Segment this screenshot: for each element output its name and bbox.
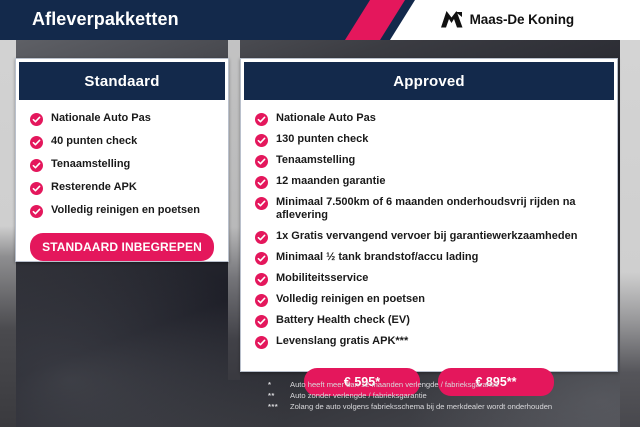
brand-name: Maas-De Koning [470,12,574,27]
card-header-approved: Approved [244,62,614,100]
list-item: 1x Gratis vervangend vervoer bij garanti… [255,230,607,244]
maas-de-koning-m-logo-icon [441,11,463,28]
feature-label: Minimaal 7.500km of 6 maanden onderhouds… [276,196,607,223]
list-item: Tenaamstelling [255,154,607,168]
footnote-row: *** Zolang de auto volgens fabrieksschem… [268,402,628,413]
list-item: Volledig reinigen en poetsen [255,293,607,307]
standaard-inbegrepen-button[interactable]: STANDAARD INBEGREPEN [30,233,214,261]
check-circle-icon [255,336,268,349]
feature-label: Nationale Auto Pas [276,112,376,125]
background-mid-strip [228,40,240,380]
feature-label: 130 punten check [276,133,368,146]
package-card-approved: Approved Nationale Auto Pas 130 punten c… [240,58,618,372]
feature-label: Battery Health check (EV) [276,314,410,327]
brand-logo: Maas-De Koning [441,11,574,28]
feature-label: Mobiliteitsservice [276,272,368,285]
page-title: Afleverpakketten [32,9,179,30]
check-circle-icon [255,273,268,286]
header-bar: Afleverpakketten Maas-De Koning [0,0,640,40]
list-item: Levenslang gratis APK*** [255,335,607,349]
feature-label: Volledig reinigen en poetsen [51,204,200,217]
footnote-text: Auto heeft meer dan 12 maanden verlengde… [290,380,499,391]
footnote-text: Zolang de auto volgens fabrieksschema bi… [290,402,552,413]
check-circle-icon [255,176,268,189]
check-circle-icon [30,159,43,172]
list-item: Minimaal ½ tank brandstof/accu lading [255,251,607,265]
check-circle-icon [30,136,43,149]
footnote-marker: ** [268,391,290,402]
check-circle-icon [30,182,43,195]
package-card-standaard: Standaard Nationale Auto Pas 40 punten c… [15,58,229,262]
list-item: Tenaamstelling [30,158,218,172]
feature-label: Minimaal ½ tank brandstof/accu lading [276,251,478,264]
slide-root: Afleverpakketten Maas-De Koning Standaar… [0,0,640,427]
card-header-standaard: Standaard [19,62,225,100]
list-item: 130 punten check [255,133,607,147]
list-item: 40 punten check [30,135,218,149]
list-item: Resterende APK [30,181,218,195]
background-left-strip [0,40,16,427]
cta-wrapper-standaard: STANDAARD INBEGREPEN [16,227,228,261]
check-circle-icon [30,113,43,126]
footnotes-block: * Auto heeft meer dan 12 maanden verleng… [268,380,628,412]
list-item: Minimaal 7.500km of 6 maanden onderhouds… [255,196,607,223]
feature-list-approved: Nationale Auto Pas 130 punten check Tena… [241,100,617,349]
list-item: Nationale Auto Pas [30,112,218,126]
feature-label: 1x Gratis vervangend vervoer bij garanti… [276,230,577,243]
footnote-row: * Auto heeft meer dan 12 maanden verleng… [268,380,628,391]
footnote-marker: * [268,380,290,391]
card-title-standaard: Standaard [84,73,159,90]
feature-label: Nationale Auto Pas [51,112,151,125]
feature-label: Tenaamstelling [276,154,355,167]
feature-label: Tenaamstelling [51,158,130,171]
feature-label: Levenslang gratis APK*** [276,335,408,348]
list-item: Volledig reinigen en poetsen [30,204,218,218]
check-circle-icon [255,315,268,328]
check-circle-icon [255,197,268,210]
check-circle-icon [255,252,268,265]
check-circle-icon [255,134,268,147]
feature-label: 40 punten check [51,135,137,148]
list-item: Mobiliteitsservice [255,272,607,286]
footnote-text: Auto zonder verlengde / fabrieksgarantie [290,391,427,402]
feature-label: Volledig reinigen en poetsen [276,293,425,306]
feature-label: Resterende APK [51,181,137,194]
list-item: Nationale Auto Pas [255,112,607,126]
footnote-row: ** Auto zonder verlengde / fabrieksgaran… [268,391,628,402]
feature-label: 12 maanden garantie [276,175,385,188]
card-title-approved: Approved [393,73,465,90]
footnote-marker: *** [268,402,290,413]
check-circle-icon [255,231,268,244]
check-circle-icon [255,113,268,126]
check-circle-icon [255,155,268,168]
list-item: 12 maanden garantie [255,175,607,189]
feature-list-standaard: Nationale Auto Pas 40 punten check Tenaa… [16,100,228,218]
background-right-strip [620,40,640,427]
check-circle-icon [30,205,43,218]
list-item: Battery Health check (EV) [255,314,607,328]
check-circle-icon [255,294,268,307]
